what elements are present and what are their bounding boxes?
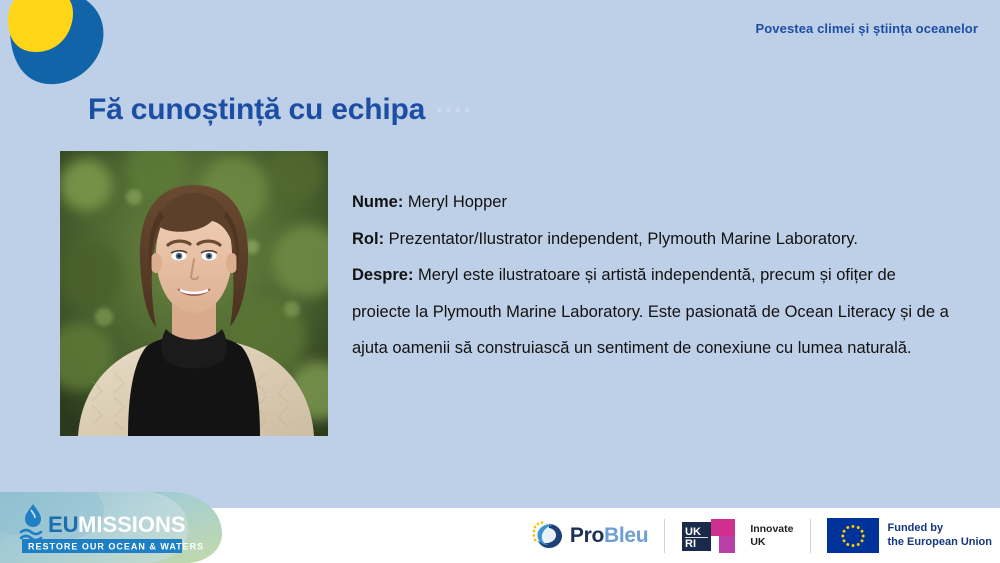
bio-about-line: Despre: Meryl este ilustratoare și artis…	[352, 257, 950, 367]
logo-divider-2	[810, 519, 811, 553]
eu-mission-swoosh-logo-icon	[2, 0, 110, 98]
ukri-innovate-uk-logo: UK RI Innovate UK	[681, 518, 793, 554]
bio-text: Nume: Meryl Hopper Rol: Prezentator/Ilus…	[352, 184, 950, 367]
eu-missions-eu: EU	[48, 512, 79, 537]
eu-funding-text: Funded by the European Union	[888, 522, 993, 549]
bio-name-value: Meryl Hopper	[403, 193, 507, 211]
bio-role-line: Rol: Prezentator/Ilustrator independent,…	[352, 221, 950, 258]
logo-divider-1	[664, 519, 665, 553]
footer: EU MISSIONS RESTORE OUR OCEAN & WATERS	[0, 508, 1000, 563]
eu-funding-logo: Funded by the European Union	[827, 518, 993, 553]
eu-funding-line1: Funded by	[888, 522, 993, 536]
title-trailing-dots: ....	[435, 86, 472, 120]
eu-missions-logo: EU MISSIONS RESTORE OUR OCEAN & WATERS	[0, 492, 222, 563]
bio-name-line: Nume: Meryl Hopper	[352, 184, 950, 221]
bio-name-label: Nume:	[352, 193, 403, 211]
probleu-logo: ProBleu	[530, 519, 648, 553]
probleu-wordmark: ProBleu	[570, 524, 648, 548]
bio-role-label: Rol:	[352, 230, 384, 248]
bio-role-value: Prezentator/Ilustrator independent, Plym…	[384, 230, 858, 248]
eu-flag-icon	[827, 518, 879, 553]
bio-about-value: Meryl este ilustratoare și artistă indep…	[352, 266, 949, 357]
slide-canvas: Povestea climei și știința oceanelor Fă …	[0, 0, 1000, 508]
bio-about-label: Despre:	[352, 266, 413, 284]
header-title: Povestea climei și știința oceanelor	[755, 21, 978, 36]
innovate-uk-text: Innovate UK	[750, 523, 793, 548]
innovate-uk-line2: UK	[750, 536, 793, 549]
svg-text:RI: RI	[685, 538, 696, 550]
eu-missions-missions: MISSIONS	[78, 512, 186, 537]
probleu-swirl-icon	[530, 519, 564, 553]
svg-text:UK: UK	[685, 526, 701, 538]
innovate-uk-line1: Innovate	[750, 523, 793, 536]
eu-funding-line2: the European Union	[888, 536, 993, 550]
eu-missions-banner-text: RESTORE OUR OCEAN & WATERS	[28, 542, 204, 552]
page-title-text: Fă cunoștință cu echipa	[88, 95, 425, 125]
page-title: Fă cunoștință cu echipa ....	[88, 86, 472, 125]
footer-logo-row: ProBleu UK RI Innov	[530, 513, 992, 558]
ukri-logo-icon: UK RI	[681, 518, 743, 554]
portrait-photo	[60, 151, 328, 436]
slide-root: Povestea climei și știința oceanelor Fă …	[0, 0, 1000, 563]
probleu-word-pro: Pro	[570, 524, 604, 547]
probleu-word-bleu: Bleu	[604, 524, 648, 547]
